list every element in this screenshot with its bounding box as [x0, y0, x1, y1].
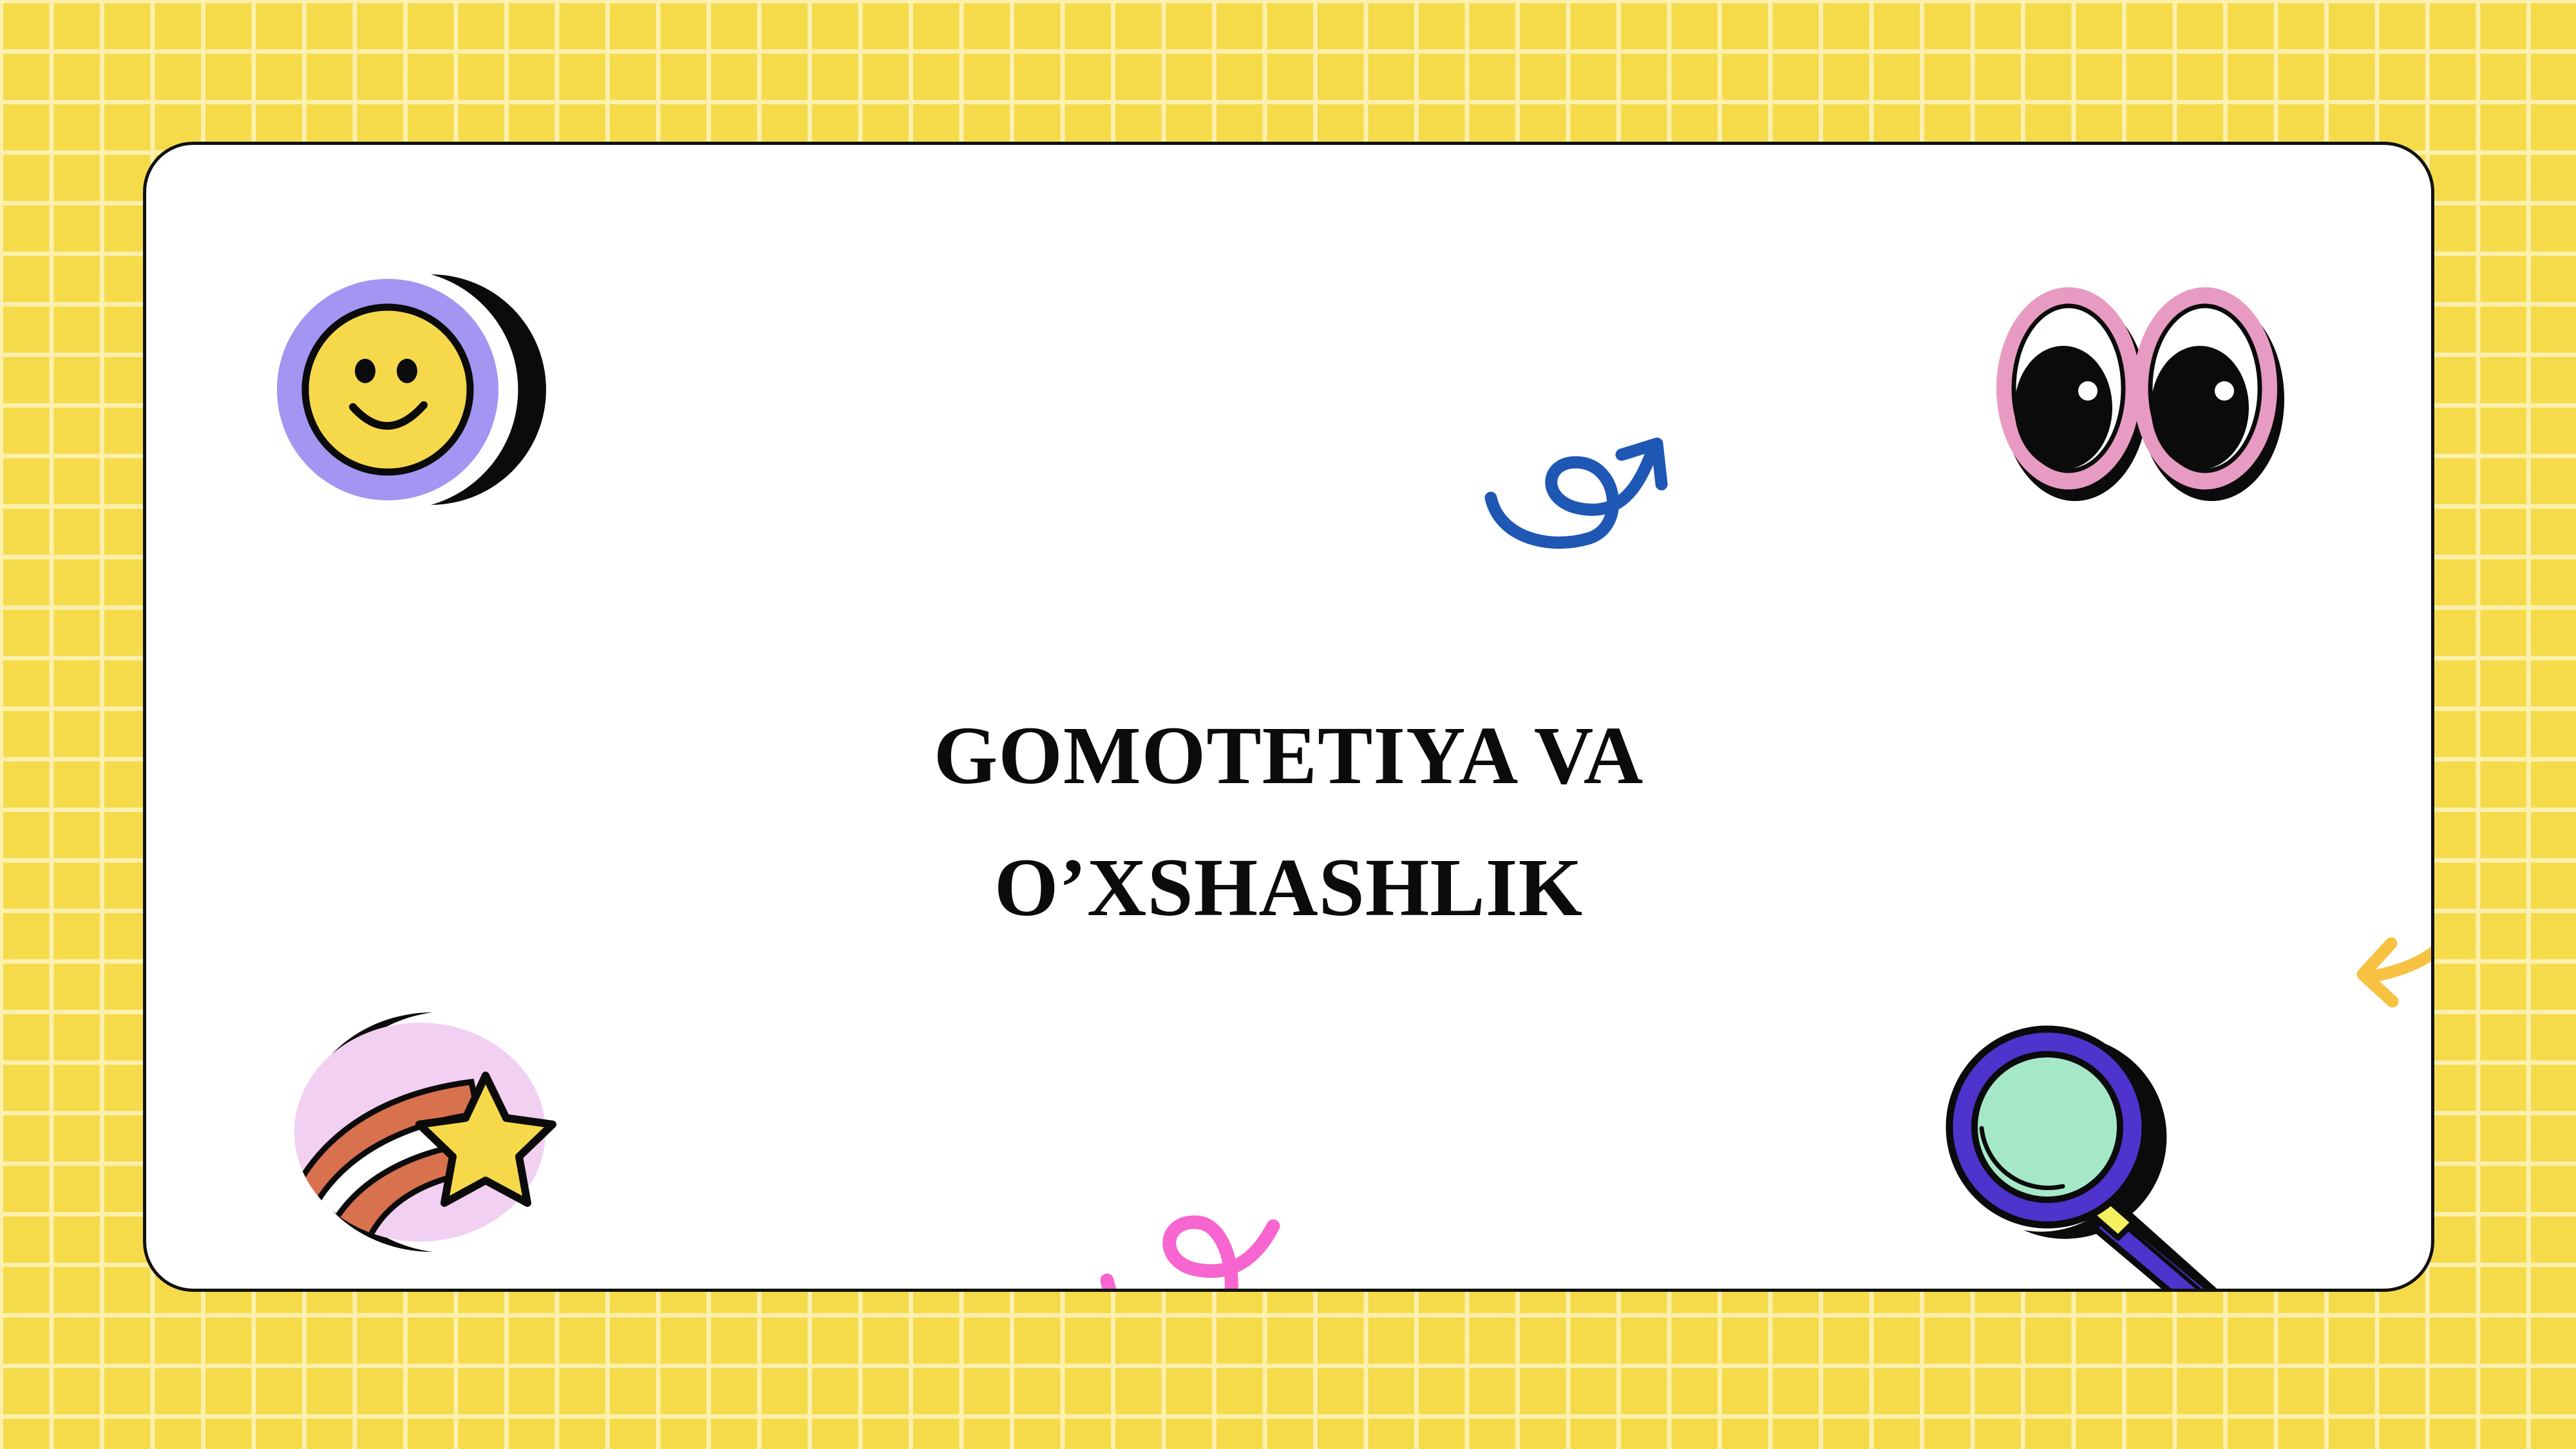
- smiley-face-circle: [305, 307, 470, 472]
- shooting-star-sticker: [259, 1005, 581, 1259]
- page-title: GOMOTETIYA VA O’XSHASHLIK: [146, 690, 2431, 954]
- cartoon-eyes-sticker: [1985, 261, 2300, 525]
- smiley-face-sticker: [273, 264, 524, 515]
- smiley-left-eye: [355, 359, 375, 383]
- magnifier-lens: [1975, 1054, 2120, 1200]
- smiley-right-eye: [397, 359, 417, 383]
- yellow-curved-arrow: [2316, 821, 2434, 1014]
- magnifying-glass-sticker: [1937, 1018, 2259, 1292]
- page-title-line-2: O’XSHASHLIK: [146, 822, 2431, 954]
- pink-curly-squiggle: [1067, 1172, 1338, 1292]
- slide-canvas: GOMOTETIYA VA O’XSHASHLIK: [0, 0, 2576, 1449]
- blue-arrow-path: [1491, 452, 1652, 543]
- blue-curly-arrow: [1460, 412, 1698, 573]
- pink-squiggle-path: [1107, 1222, 1273, 1292]
- slide-card: GOMOTETIYA VA O’XSHASHLIK: [143, 142, 2434, 1292]
- page-title-line-1: GOMOTETIYA VA: [146, 690, 2431, 822]
